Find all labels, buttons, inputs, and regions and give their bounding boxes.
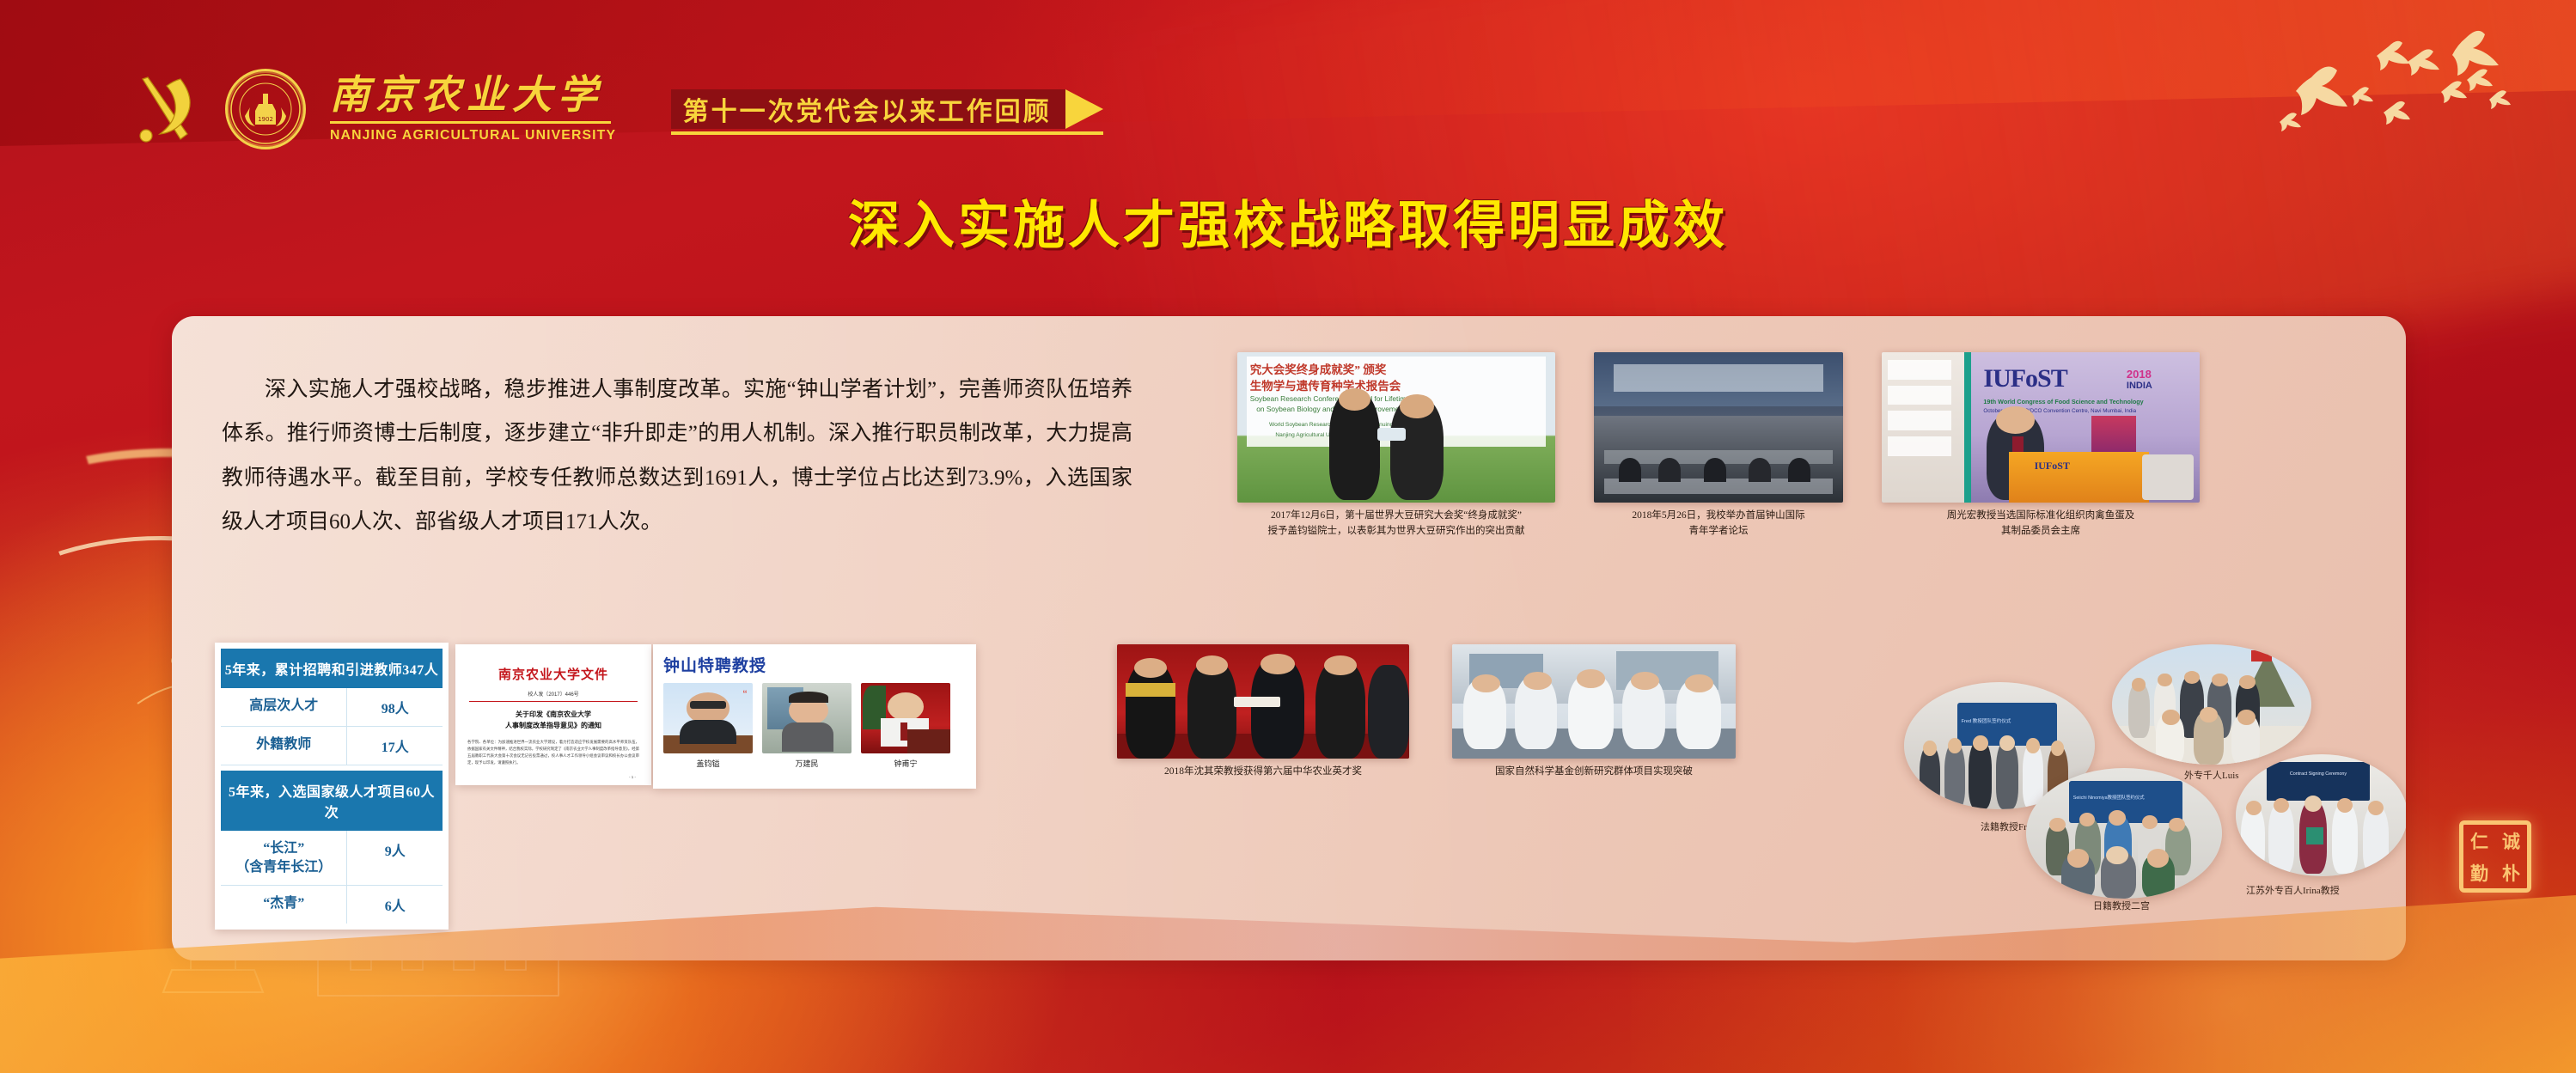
table-row: “长江” （含青年长江） 9人 [221, 831, 443, 886]
figure-caption: 周光宏教授当选国际标准化组织肉禽鱼蛋及 其制品委员会主席 [1882, 509, 2200, 540]
cluster-photo-irina: Contract Signing Ceremony [2236, 754, 2406, 876]
screen-text: Seiichi Ninomiya教授团队签约仪式 [2073, 794, 2179, 801]
banner-cn-line2: 生物学与遗传育种学术报告会 [1250, 376, 1542, 393]
cluster-photo-luis [2112, 644, 2311, 765]
professor-photo [861, 683, 950, 753]
figure-caption: 2018年沈其荣教授获得第六届中华农业英才奖 [1117, 765, 1409, 780]
motto-seal-stamp: 仁 诚 勤 朴 [2459, 820, 2531, 893]
figure-soybean-award: 究大会奖终身成就奖” 颁奖 生物学与遗传育种学术报告会 Soybean Rese… [1237, 352, 1555, 540]
professor-name: 钟甫宁 [861, 758, 950, 769]
document-page-number: - 1 - [464, 775, 643, 779]
university-seal-icon: 1902 [225, 69, 306, 149]
university-name-en: NANJING AGRICULTURAL UNIVERSITY [330, 128, 616, 143]
professors-row: “ 盖钧镒 万建民 [663, 683, 966, 769]
table-row: 高层次人才 98人 [221, 688, 443, 727]
banner-en-line1: Soybean Research Conference Award for Li… [1250, 394, 1542, 403]
page-title: 深入实施人才强校战略取得明显成效 [0, 184, 2576, 259]
figure-image [1452, 644, 1736, 759]
figure-image: IUFoST 2018 INDIA 19th World Congress of… [1882, 352, 2200, 503]
figure-shenqirong-award: 2018年沈其荣教授获得第六届中华农业英才奖 [1117, 644, 1409, 780]
row-value: 6人 [347, 886, 443, 924]
seal-char-4: 朴 [2502, 860, 2520, 886]
professor-photo [762, 683, 852, 753]
professor-item: 钟甫宁 [861, 683, 950, 769]
professor-item: 万建民 [762, 683, 852, 769]
banner-arrow-icon [1065, 89, 1103, 129]
poster-country: INDIA [2127, 381, 2152, 391]
document-heading: 南京农业大学文件 [464, 665, 643, 683]
figure-caption: 2018年5月26日，我校举办首届钟山国际 青年学者论坛 [1594, 509, 1843, 540]
table-row: “杰青” 6人 [221, 886, 443, 924]
row-value: 17人 [347, 727, 443, 765]
figure-nsfc-group: 国家自然科学基金创新研究群体项目实现突破 [1452, 644, 1736, 780]
table-row: 外籍教师 17人 [221, 727, 443, 765]
section-banner-body: 第十一次党代会以来工作回顾 [671, 89, 1065, 129]
header: 1902 南京农业大学 NANJING AGRICULTURAL UNIVERS… [129, 69, 1103, 149]
seal-char-1: 仁 [2470, 828, 2488, 854]
policy-document-card: 南京农业大学文件 校人发〔2017〕446号 关于印发《南京农业大学 人事制度改… [455, 644, 651, 785]
figure-iufost-congress: IUFoST 2018 INDIA 19th World Congress of… [1882, 352, 2200, 540]
professor-name: 盖钧镒 [663, 758, 753, 769]
professor-photo: “ [663, 683, 753, 753]
university-name-cn: 南京农业大学 [330, 76, 611, 115]
figure-zhongshan-forum: 2018年5月26日，我校举办首届钟山国际 青年学者论坛 [1594, 352, 1843, 540]
seal-char-3: 勤 [2470, 860, 2488, 886]
section-banner: 第十一次党代会以来工作回顾 [671, 89, 1103, 129]
professor-name: 万建民 [762, 758, 852, 769]
figure-image [1117, 644, 1409, 759]
document-title-line2: 人事制度改革指导意见》的通知 [464, 721, 643, 732]
seal-char-2: 诚 [2502, 828, 2520, 854]
figure-image: 究大会奖终身成就奖” 颁奖 生物学与遗传育种学术报告会 Soybean Rese… [1237, 352, 1555, 503]
document-body: 各学院、各单位：为加速推进世界一流农业大学建设，着力打造适应学校发展需要的高水平… [464, 739, 643, 767]
stats-section2-header: 5年来，入选国家级人才项目60人次 [221, 771, 443, 831]
doves-decoration [2251, 22, 2561, 143]
hammer-sickle-icon [129, 72, 203, 146]
banner-cn-line1: 究大会奖终身成就奖” 颁奖 [1250, 360, 1542, 377]
svg-text:1902: 1902 [258, 116, 273, 123]
poster-year: 2018 [2127, 368, 2152, 381]
poster-canvas: 1902 南京农业大学 NANJING AGRICULTURAL UNIVERS… [0, 0, 2576, 1073]
content-panel: 深入实施人才强校战略，稳步推进人事制度改革。实施“钟山学者计划”，完善师资队伍培… [172, 316, 2406, 960]
row-label: “杰青” [221, 886, 347, 924]
body-paragraph: 深入实施人才强校战略，稳步推进人事制度改革。实施“钟山学者计划”，完善师资队伍培… [222, 368, 1132, 544]
cluster-label-irina: 江苏外专百人Irina教授 [2246, 883, 2340, 897]
figure-caption: 2017年12月6日，第十届世界大豆研究大会奖“终身成就奖” 授予盖钧镒院士，以… [1237, 509, 1555, 540]
cluster-label-ninomiya: 日籍教授二宫 [2093, 899, 2150, 912]
poster-title: IUFoST [1983, 364, 2066, 393]
figure-caption: 国家自然科学基金创新研究群体项目实现突破 [1452, 765, 1736, 780]
stats-table: 5年来，累计招聘和引进教师347人 高层次人才 98人 外籍教师 17人 5年来… [215, 643, 449, 930]
row-value: 98人 [347, 688, 443, 726]
row-label: 高层次人才 [221, 688, 347, 726]
zhongshan-professors-card: 钟山特聘教授 “ 盖钧镒 [653, 644, 976, 789]
screen-text: Contract Signing Ceremony [2270, 771, 2366, 777]
banner-underline [671, 131, 1103, 135]
document-title-line1: 关于印发《南京农业大学 [464, 710, 643, 721]
professor-item: “ 盖钧镒 [663, 683, 753, 769]
document-number: 校人发〔2017〕446号 [464, 690, 643, 698]
poster-subtitle: 19th World Congress of Food Science and … [1983, 398, 2193, 405]
row-value: 9人 [347, 831, 443, 885]
screen-text: Fred 教授团队签约仪式 [1962, 717, 2054, 724]
stats-section1-header: 5年来，累计招聘和引进教师347人 [221, 649, 443, 688]
foreign-experts-cluster: Fred 教授团队签约仪式 法籍教授Fred [1899, 641, 2380, 942]
name-divider [330, 121, 611, 124]
document-rule [469, 701, 638, 702]
row-label: “长江” （含青年长江） [221, 831, 347, 885]
university-name-block: 南京农业大学 NANJING AGRICULTURAL UNIVERSITY [330, 76, 611, 143]
professors-heading: 钟山特聘教授 [663, 653, 966, 676]
section-banner-label: 第十一次党代会以来工作回顾 [683, 90, 1052, 128]
row-label: 外籍教师 [221, 727, 347, 765]
figure-image [1594, 352, 1843, 503]
cluster-photo-ninomiya: Seiichi Ninomiya教授团队签约仪式 [2026, 768, 2222, 899]
